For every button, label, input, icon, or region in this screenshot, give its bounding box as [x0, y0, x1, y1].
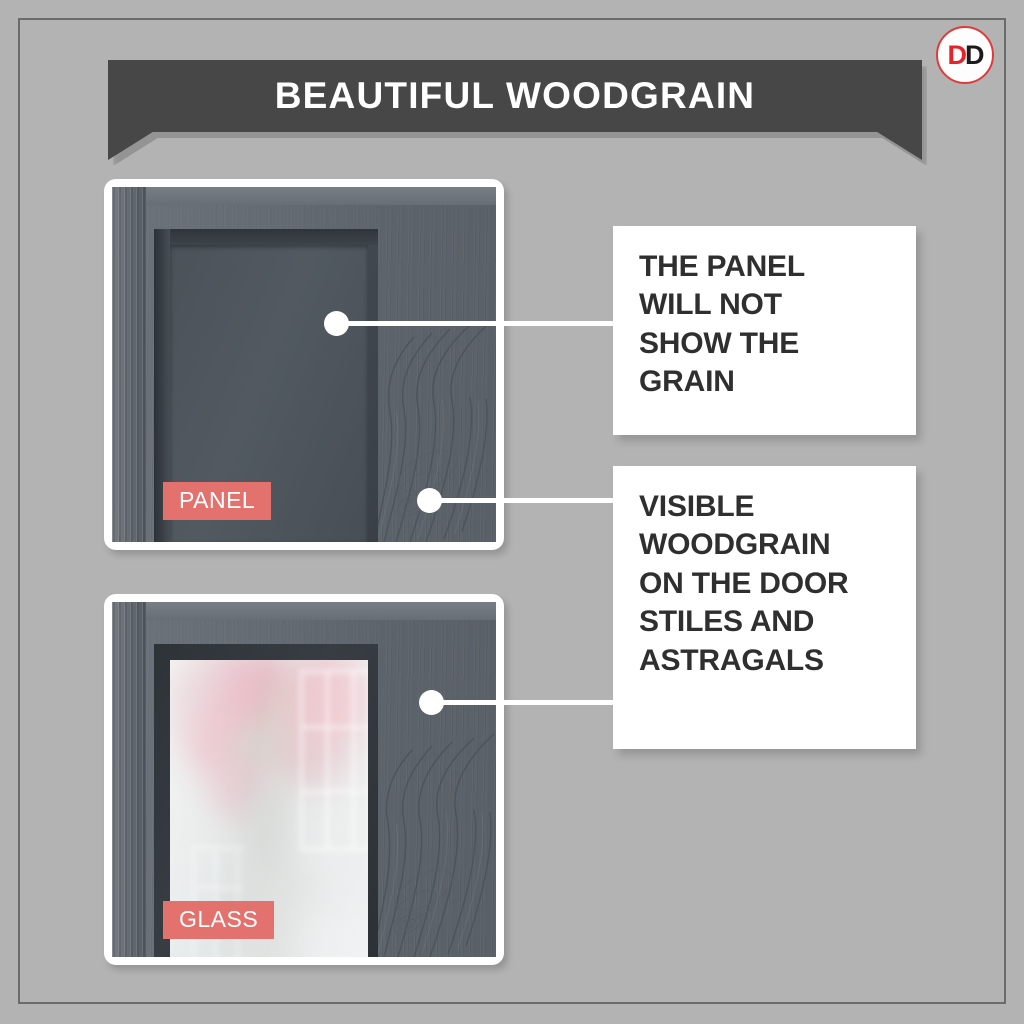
door-top-rail — [112, 602, 496, 620]
connector-dot-stile-bottom — [419, 690, 444, 715]
door-top-rail — [112, 187, 496, 205]
callout-panel-no-grain-text: THE PANEL WILL NOT SHOW THE GRAIN — [639, 248, 890, 402]
infographic-canvas: DD BEAUTIFUL WOODGRAIN — [0, 0, 1024, 1024]
label-glass: GLASS — [163, 901, 274, 939]
callout-visible-woodgrain: VISIBLE WOODGRAIN ON THE DOOR STILES AND… — [613, 466, 916, 749]
door-left-jamb — [112, 602, 146, 957]
logo-letter-red: D — [948, 40, 966, 70]
callout-panel-no-grain: THE PANEL WILL NOT SHOW THE GRAIN — [613, 226, 916, 435]
connector-dot-panel — [324, 311, 349, 336]
label-panel: PANEL — [163, 482, 271, 520]
connector-line-stile-bottom — [438, 700, 615, 705]
header-ribbon: BEAUTIFUL WOODGRAIN — [108, 60, 922, 160]
door-left-jamb — [112, 187, 146, 542]
panel-bevel-top — [154, 229, 378, 245]
page-title: BEAUTIFUL WOODGRAIN — [108, 60, 922, 132]
callout-visible-woodgrain-text: VISIBLE WOODGRAIN ON THE DOOR STILES AND… — [639, 488, 890, 680]
woodgrain-figure — [366, 602, 496, 957]
logo-letters: DD — [948, 42, 983, 69]
dd-logo: DD — [936, 26, 994, 84]
connector-line-panel — [343, 321, 615, 326]
logo-letter-black: D — [965, 40, 983, 70]
connector-dot-stile-top — [417, 488, 442, 513]
connector-line-stile-top — [436, 498, 615, 503]
